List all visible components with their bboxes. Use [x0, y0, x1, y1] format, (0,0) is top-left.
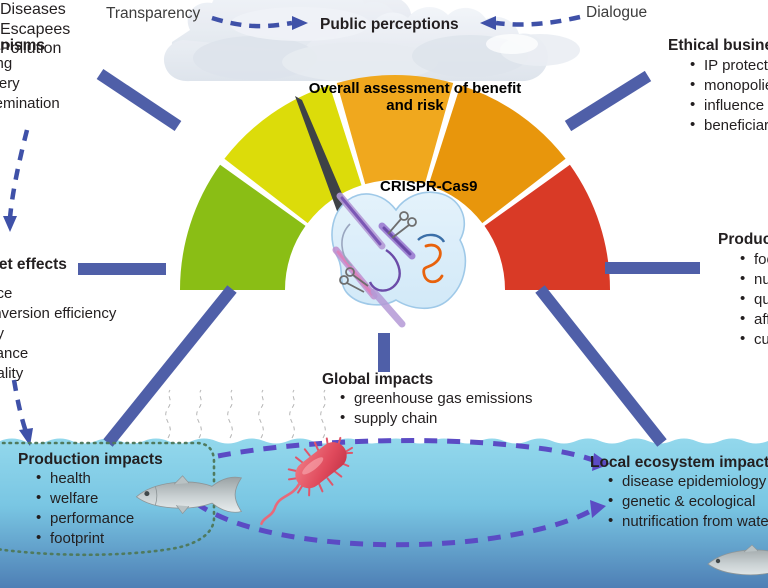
- panel-mechanisms-list: editing delivery dissemination: [0, 54, 60, 114]
- list-item: fecundity: [0, 324, 116, 344]
- panel-global-heading: Global impacts: [322, 372, 532, 388]
- panel-product-list: food safety nutrition quality affordabil…: [740, 250, 768, 350]
- list-item: nutrification from water: [608, 512, 768, 532]
- panel-mechanisms: Mechanisms editing delivery disseminatio…: [0, 38, 60, 114]
- panel-product: Product food safety nutrition quality af…: [718, 232, 768, 350]
- list-item: quality: [740, 290, 768, 310]
- panel-local-ecosystem-impacts: Local ecosystem impacts disease epidemio…: [590, 455, 768, 532]
- panel-effects-list: resistance feed conversion efficiency fe…: [0, 284, 116, 404]
- list-item: genetic & ecological: [608, 492, 768, 512]
- list-item: health: [36, 469, 163, 489]
- list-item: delivery: [0, 74, 60, 94]
- list-item: performance: [0, 344, 116, 364]
- panel-production-impacts-list: health welfare performance footprint: [36, 469, 163, 549]
- panel-ethical-heading: Ethical business: [668, 38, 768, 54]
- bacterium-icon: [242, 426, 363, 534]
- list-item: feed conversion efficiency: [0, 304, 116, 324]
- panel-production-impacts-heading: Production impacts: [18, 452, 163, 468]
- list-item: beneficiaries: [690, 116, 768, 136]
- list-item: growth: [0, 384, 116, 404]
- list-item: supply chain: [340, 409, 532, 429]
- gauge-title: Overall assessment of benefit and risk: [300, 80, 530, 115]
- panel-global-list: greenhouse gas emissions supply chain: [340, 389, 532, 429]
- panel-off-target-effects: Off-target effects resistance feed conve…: [0, 257, 116, 404]
- panel-product-heading: Product: [718, 232, 768, 248]
- list-item: monopolies: [690, 76, 768, 96]
- dialogue-label: Dialogue: [586, 4, 647, 22]
- list-item: disease epidemiology: [608, 472, 768, 492]
- panel-production-impacts: Production impacts health welfare perfor…: [18, 452, 163, 549]
- list-item: affordability: [740, 310, 768, 330]
- diagram-canvas: Overall assessment of benefit and risk C…: [0, 0, 768, 588]
- list-item: flesh quality: [0, 364, 116, 384]
- list-item: IP protection: [690, 56, 768, 76]
- list-item: performance: [36, 509, 163, 529]
- list-item: greenhouse gas emissions: [340, 389, 532, 409]
- list-item: welfare: [36, 489, 163, 509]
- panel-local-list: disease epidemiology genetic & ecologica…: [608, 472, 768, 532]
- panel-global-impacts: Global impacts greenhouse gas emissions …: [322, 372, 532, 429]
- list-item: dissemination: [0, 94, 60, 114]
- list-item: resistance: [0, 284, 116, 304]
- transparency-label: Transparency: [106, 5, 200, 23]
- panel-mechanisms-heading: Mechanisms: [0, 38, 60, 54]
- list-item: editing: [0, 54, 60, 74]
- panel-local-heading: Local ecosystem impacts: [590, 455, 768, 471]
- panel-ethical-business: Ethical business IP protection monopolie…: [668, 38, 768, 136]
- list-item: nutrition: [740, 270, 768, 290]
- panel-effects-heading: Off-target effects: [0, 257, 116, 273]
- crispr-label: CRISPR-Cas9: [380, 178, 478, 195]
- list-item: food safety: [740, 250, 768, 270]
- fish-icon: [708, 545, 768, 579]
- list-item: customer choice: [740, 330, 768, 350]
- public-perceptions-label: Public perceptions: [320, 16, 459, 34]
- panel-ethical-list: IP protection monopolies influence benef…: [690, 56, 768, 136]
- list-item: influence: [690, 96, 768, 116]
- list-item: footprint: [36, 529, 163, 549]
